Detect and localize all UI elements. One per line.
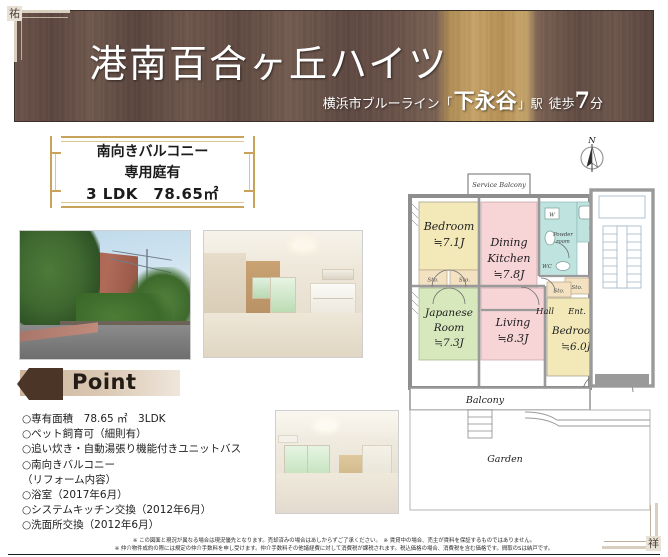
train-line-label: 横浜市ブルーライン xyxy=(323,93,440,112)
exterior-building-photo xyxy=(19,230,191,360)
room-label-bedroom-1: Bedroom xyxy=(423,220,475,233)
spec-layout-area: 3 LDK 78.65㎡ xyxy=(86,183,219,204)
room-size-living: ≒8.3J xyxy=(497,332,529,345)
station-name: 下永谷 xyxy=(454,85,517,115)
flyer-page: 港南百合ヶ丘ハイツ 横浜市ブルーライン 「 下永谷 」 駅 徒歩 7 分 祐 祥… xyxy=(0,0,668,557)
room-size-bedroom-2: ≒6.0J xyxy=(561,341,591,353)
svg-text:N: N xyxy=(587,136,596,146)
station-suffix: 駅 xyxy=(531,95,543,112)
area-label-garden: Garden xyxy=(487,454,523,465)
disclaimer-line-2: ※ 仲介物件成約の際には規定の仲介手数料を申し受けます。仲介手数料その他諸経費に… xyxy=(0,545,668,553)
list-item: （リフォーム内容） xyxy=(22,473,277,488)
svg-text:room: room xyxy=(556,239,570,245)
minutes-unit: 分 xyxy=(590,93,603,112)
page-title: 港南百合ヶ丘ハイツ xyxy=(89,33,448,88)
room-label-japanese-2: Room xyxy=(433,322,465,334)
property-spec-box: 南向きバルコニー 専用庭有 3 LDK 78.65㎡ xyxy=(50,136,255,208)
walk-label: 徒歩 xyxy=(549,93,575,112)
room-label-living: Living xyxy=(495,316,531,329)
disclaimer-text: ※ この図面と現況が異なる場合は現況優先となります。売却済みの場合はあしからずご… xyxy=(0,537,668,553)
corner-seal-top-left: 祐 xyxy=(7,6,22,21)
list-item: ○ペット飼育可（細則有） xyxy=(22,427,277,442)
list-item: ○システムキッチン交換（2012年6月） xyxy=(22,503,277,518)
list-item: ○洗面所交換（2012年6月） xyxy=(22,518,277,533)
floor-plan: N Service Balcony Sto. S xyxy=(405,130,655,518)
room-label-hall: Hall xyxy=(535,307,554,317)
station-access-line: 横浜市ブルーライン 「 下永谷 」 駅 徒歩 7 分 xyxy=(323,85,603,115)
list-item: ○追い炊き・自動湯張り機能付きユニットバス xyxy=(22,442,277,457)
list-item: ○専有面積 78.65 ㎡ 3LDK xyxy=(22,412,277,427)
point-banner-label: Point xyxy=(72,370,137,394)
bracket-close: 」 xyxy=(518,93,531,112)
svg-text:Sto.: Sto. xyxy=(571,285,582,291)
living-room-interior-photo xyxy=(275,410,399,514)
spec-private-garden: 専用庭有 xyxy=(125,162,181,182)
compass-north-icon: N xyxy=(581,136,603,172)
list-item: ○浴室（2017年6月） xyxy=(22,488,277,503)
room-label-dining-kitchen-2: Kitchen xyxy=(487,252,531,265)
room-size-dining-kitchen: ≒7.8J xyxy=(493,268,525,281)
room-label-dining-kitchen-1: Dining xyxy=(489,236,527,249)
spec-balcony-direction: 南向きバルコニー xyxy=(97,141,209,161)
footer-rule xyxy=(8,554,660,555)
disclaimer-line-1: ※ この図面と現況が異なる場合は現況優先となります。売却済みの場合はあしからずご… xyxy=(0,537,668,545)
room-size-bedroom-1: ≒7.1J xyxy=(433,236,465,249)
bracket-open: 「 xyxy=(440,93,453,112)
walk-minutes: 7 xyxy=(575,88,590,114)
corner-seal-bottom-right: 祥 xyxy=(646,536,661,551)
svg-text:Service Balcony: Service Balcony xyxy=(472,181,526,189)
header-banner: 港南百合ヶ丘ハイツ 横浜市ブルーライン 「 下永谷 」 駅 徒歩 7 分 xyxy=(14,10,654,122)
room-label-japanese-1: Japanese xyxy=(423,307,473,319)
list-item: ○南向きバルコニー xyxy=(22,458,277,473)
svg-text:Powder: Powder xyxy=(552,232,573,238)
corner-ornament-top-left-icon xyxy=(14,10,70,62)
point-list: ○専有面積 78.65 ㎡ 3LDK ○ペット飼育可（細則有） ○追い炊き・自動… xyxy=(22,412,277,534)
room-label-entrance: Ent. xyxy=(567,307,586,317)
dining-kitchen-interior-photo xyxy=(203,230,363,358)
room-size-japanese: ≒7.3J xyxy=(434,337,464,349)
svg-text:WC: WC xyxy=(542,264,553,270)
area-label-balcony: Balcony xyxy=(465,395,505,406)
